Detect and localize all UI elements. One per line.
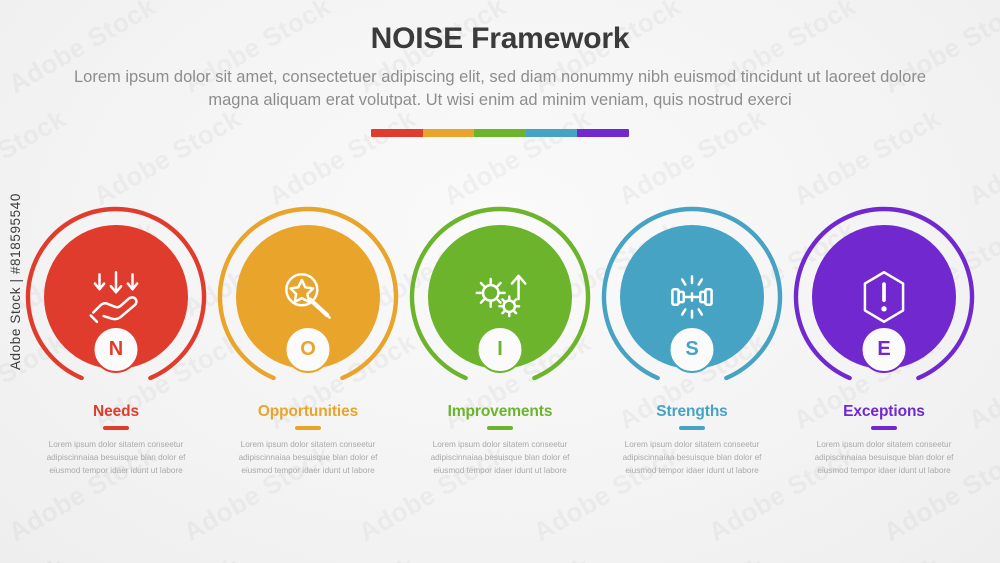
hexagon-exclamation-icon [851, 264, 917, 330]
noise-card-needs[interactable]: NNeedsLorem ipsum dolor sitatem conseetu… [20, 206, 212, 477]
circle-graphic: I [409, 206, 591, 388]
label-underline [871, 426, 897, 430]
circle-graphic: S [601, 206, 783, 388]
header: NOISE Framework Lorem ipsum dolor sit am… [0, 22, 1000, 113]
divider-segment-4 [526, 129, 578, 137]
hand-receiving-arrows-icon [83, 264, 149, 330]
watermark-tile: Adobe Stock [438, 103, 596, 212]
circle-graphic: O [217, 206, 399, 388]
circle-graphic: E [793, 206, 975, 388]
noise-card-exceptions[interactable]: EExceptionsLorem ipsum dolor sitatem con… [788, 206, 980, 477]
card-label: Needs [93, 403, 139, 421]
label-underline [487, 426, 513, 430]
card-label: Opportunities [258, 403, 358, 421]
watermark-tile: Adobe Stock [788, 551, 946, 563]
watermark-tile: Adobe Stock [963, 551, 1000, 563]
watermark-tile: Adobe Stock [0, 551, 71, 563]
watermark-tile: Adobe Stock [263, 551, 421, 563]
noise-card-strengths[interactable]: SStrengthsLorem ipsum dolor sitatem cons… [596, 206, 788, 477]
card-body-text: Lorem ipsum dolor sitatem conseetur adip… [612, 438, 772, 478]
divider-segment-1 [371, 129, 423, 137]
color-divider [371, 129, 629, 137]
letter-badge-n: N [93, 326, 140, 373]
watermark-tile: Adobe Stock [788, 103, 946, 212]
divider-segment-5 [577, 129, 629, 137]
card-body-text: Lorem ipsum dolor sitatem conseetur adip… [420, 438, 580, 478]
letter-badge-i: I [477, 326, 524, 373]
watermark-tile: Adobe Stock [438, 551, 596, 563]
watermark-tile: Adobe Stock [963, 103, 1000, 212]
label-underline [103, 426, 129, 430]
gears-up-arrow-icon [467, 264, 533, 330]
card-label: Improvements [448, 403, 553, 421]
noise-card-opportunities[interactable]: OOpportunitiesLorem ipsum dolor sitatem … [212, 206, 404, 477]
watermark-tile: Adobe Stock [613, 551, 771, 563]
page-title: NOISE Framework [0, 22, 1000, 56]
watermark-tile: Adobe Stock [0, 103, 71, 212]
card-body-text: Lorem ipsum dolor sitatem conseetur adip… [228, 438, 388, 478]
watermark-tile: Adobe Stock [263, 103, 421, 212]
noise-card-improvements[interactable]: IImprovementsLorem ipsum dolor sitatem c… [404, 206, 596, 477]
letter-badge-o: O [285, 326, 332, 373]
circle-graphic: N [25, 206, 207, 388]
watermark-tile: Adobe Stock [88, 103, 246, 212]
watermark-tile: Adobe Stock [613, 103, 771, 212]
letter-badge-s: S [669, 326, 716, 373]
magnifier-star-icon [275, 264, 341, 330]
divider-segment-2 [423, 129, 475, 137]
noise-cards-row: NNeedsLorem ipsum dolor sitatem conseetu… [20, 206, 980, 477]
label-underline [679, 426, 705, 430]
label-underline [295, 426, 321, 430]
dumbbell-icon [659, 264, 725, 330]
page-subtitle: Lorem ipsum dolor sit amet, consectetuer… [60, 66, 940, 113]
divider-segment-3 [474, 129, 526, 137]
card-body-text: Lorem ipsum dolor sitatem conseetur adip… [804, 438, 964, 478]
slide-canvas: Adobe StockAdobe StockAdobe StockAdobe S… [0, 0, 1000, 563]
card-label: Strengths [656, 403, 727, 421]
card-label: Exceptions [843, 403, 925, 421]
watermark-tile: Adobe Stock [88, 551, 246, 563]
card-body-text: Lorem ipsum dolor sitatem conseetur adip… [36, 438, 196, 478]
letter-badge-e: E [861, 326, 908, 373]
